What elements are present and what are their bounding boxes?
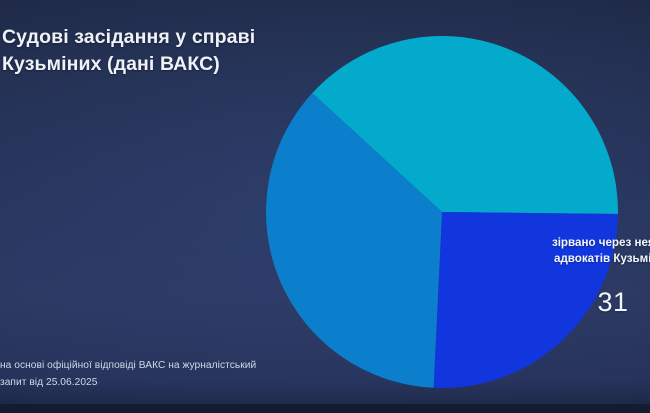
page-title: Судові засідання у справі Кузьміних (дан… [2,24,302,78]
source-credit: на основі офіційної відповіді ВАКС на жу… [0,358,300,391]
pie-slices [266,36,618,388]
page-title-line-1: Судові засідання у справі [2,24,302,51]
pie-chart: відбулося 33 зірвано через неявку адвока… [262,32,622,392]
pie-chart-svg [262,32,622,392]
source-credit-line-2: запит від 25.06.2025 [0,375,300,392]
bottom-strip [0,404,650,413]
pie-slice-kuzmins[interactable] [434,212,618,388]
infographic-canvas: Судові засідання у справі Кузьміних (дан… [0,0,650,413]
source-credit-line-1: на основі офіційної відповіді ВАКС на жу… [0,358,300,375]
page-title-line-2: Кузьміних (дані ВАКС) [2,51,302,78]
